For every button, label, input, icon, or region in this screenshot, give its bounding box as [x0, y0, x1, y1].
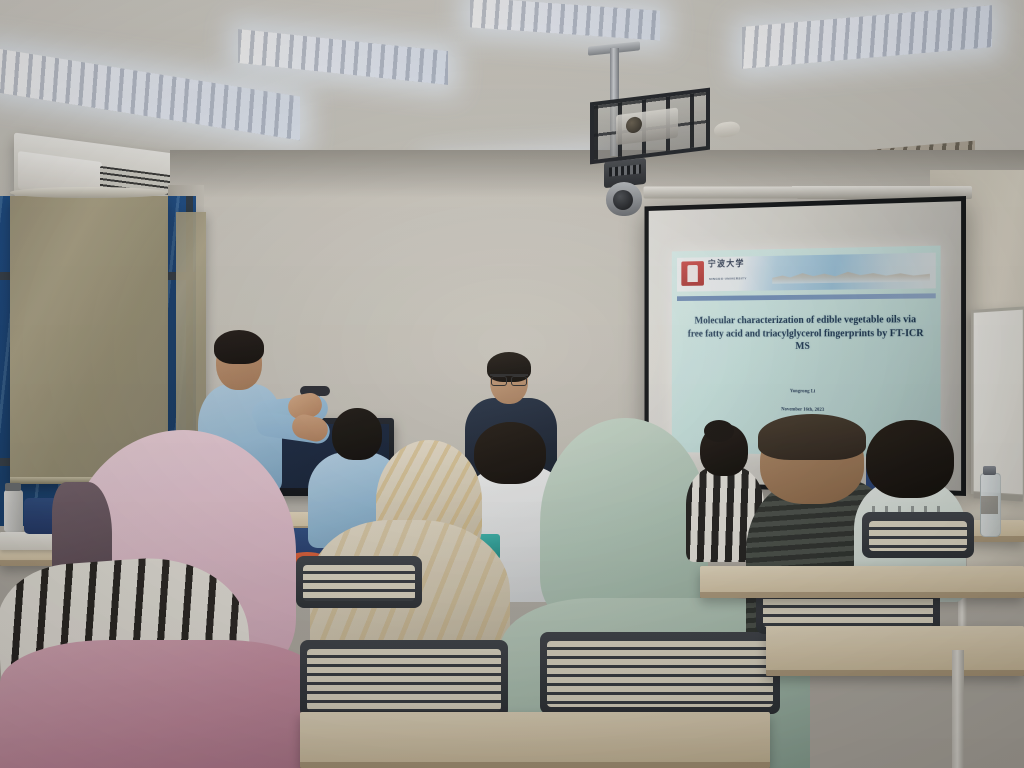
presenter-hair [214, 330, 264, 364]
slide-logo-chinese: 宁波大学 [708, 260, 745, 269]
thermos-flask [4, 490, 23, 532]
ningbo-university-logo-icon [681, 261, 704, 286]
camera-lens-icon [606, 182, 642, 216]
graphic-tee-head [866, 420, 954, 498]
ceiling-light-3 [470, 0, 660, 41]
thermos-cap [5, 483, 21, 491]
chair-back-right[interactable] [862, 512, 974, 558]
pink-hijab-shoulder [0, 640, 320, 768]
desk-foreground-centre [300, 712, 770, 768]
attendee-white-shirt-head [474, 422, 546, 484]
slide-author: Yongrong Li [672, 388, 941, 397]
campus-photo-skyline [772, 266, 930, 283]
ceiling-light-2 [238, 29, 448, 85]
mint-hijab-head [540, 418, 708, 624]
slide-date: November 16th, 2023 [672, 405, 941, 415]
chair-foreground-far-left[interactable] [296, 556, 422, 608]
chair-slats [303, 565, 415, 601]
chair-foreground-left[interactable] [300, 640, 508, 718]
bottle-cap [983, 466, 996, 475]
desk-leg-right [952, 650, 964, 768]
desk-mid-right [700, 566, 1024, 598]
seminar-room-photo: 宁波大学 NINGBO UNIVERSITY Molecular charact… [0, 0, 1024, 768]
slide-title: Molecular characterization of edible veg… [687, 313, 924, 354]
bottle-label [981, 496, 998, 514]
desk-edge [300, 762, 770, 768]
dark-polo-hair [758, 414, 866, 460]
host-glasses-icon [490, 374, 528, 384]
desk-foreground-right [766, 626, 1024, 676]
striped-top-bun [704, 420, 734, 442]
blind-headrail [10, 187, 168, 198]
chair-slats [307, 649, 501, 711]
desk-edge [700, 592, 1024, 598]
slide-divider-rule [677, 293, 935, 301]
attendee-blue-shirt-head [332, 408, 382, 460]
ceiling-light-4 [742, 5, 992, 69]
wall-whiteboard [971, 306, 1024, 497]
chair-slats [869, 521, 967, 551]
desk-edge [766, 670, 1024, 676]
chair-foreground-centre[interactable] [540, 632, 780, 714]
chair-slats [547, 641, 773, 707]
